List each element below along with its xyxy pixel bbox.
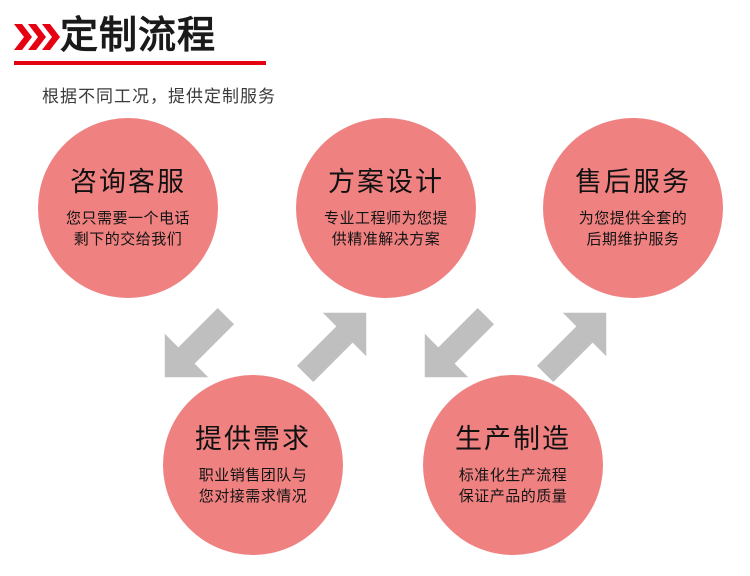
flow-node-description: 专业工程师为您提 供精准解决方案 [324,208,448,250]
flow-node-title: 生产制造 [455,424,571,456]
flow-node-description-line: 专业工程师为您提 [324,208,448,229]
flow-node-description-line: 为您提供全套的 [579,208,688,229]
flow-node-title: 售后服务 [575,167,691,199]
flow-node-title: 咨询客服 [70,167,186,199]
flow-node-description-line: 您只需要一个电话 [66,208,190,229]
infographic-canvas: 定制流程 根据不同工况，提供定制服务 咨询客服 您只需要一个电话 剩下的交给我们… [0,0,750,576]
flow-node-description: 标准化生产流程 保证产品的质量 [459,465,568,507]
flow-node-description-line: 后期维护服务 [579,229,688,250]
process-flow-diagram: 咨询客服 您只需要一个电话 剩下的交给我们 方案设计 专业工程师为您提 供精准解… [0,0,750,576]
arrow-up-right-icon [287,296,383,392]
flow-node-description: 您只需要一个电话 剩下的交给我们 [66,208,190,250]
flow-node-description-line: 标准化生产流程 [459,465,568,486]
flow-node-description-line: 您对接需求情况 [199,486,308,507]
arrow-down-right-icon [408,298,504,394]
flow-node-solution-design[interactable]: 方案设计 专业工程师为您提 供精准解决方案 [296,118,476,298]
flow-node-title: 提供需求 [195,424,311,456]
arrow-down-right-icon [148,298,244,394]
flow-node-title: 方案设计 [328,167,444,199]
flow-node-description: 职业销售团队与 您对接需求情况 [199,465,308,507]
flow-node-consultation[interactable]: 咨询客服 您只需要一个电话 剩下的交给我们 [38,118,218,298]
flow-node-after-sales[interactable]: 售后服务 为您提供全套的 后期维护服务 [543,118,723,298]
flow-node-manufacturing[interactable]: 生产制造 标准化生产流程 保证产品的质量 [423,375,603,555]
flow-node-description-line: 供精准解决方案 [324,229,448,250]
flow-node-description-line: 职业销售团队与 [199,465,308,486]
flow-node-requirements[interactable]: 提供需求 职业销售团队与 您对接需求情况 [163,375,343,555]
flow-node-description-line: 剩下的交给我们 [66,229,190,250]
flow-node-description-line: 保证产品的质量 [459,486,568,507]
flow-node-description: 为您提供全套的 后期维护服务 [579,208,688,250]
arrow-up-right-icon [527,296,623,392]
